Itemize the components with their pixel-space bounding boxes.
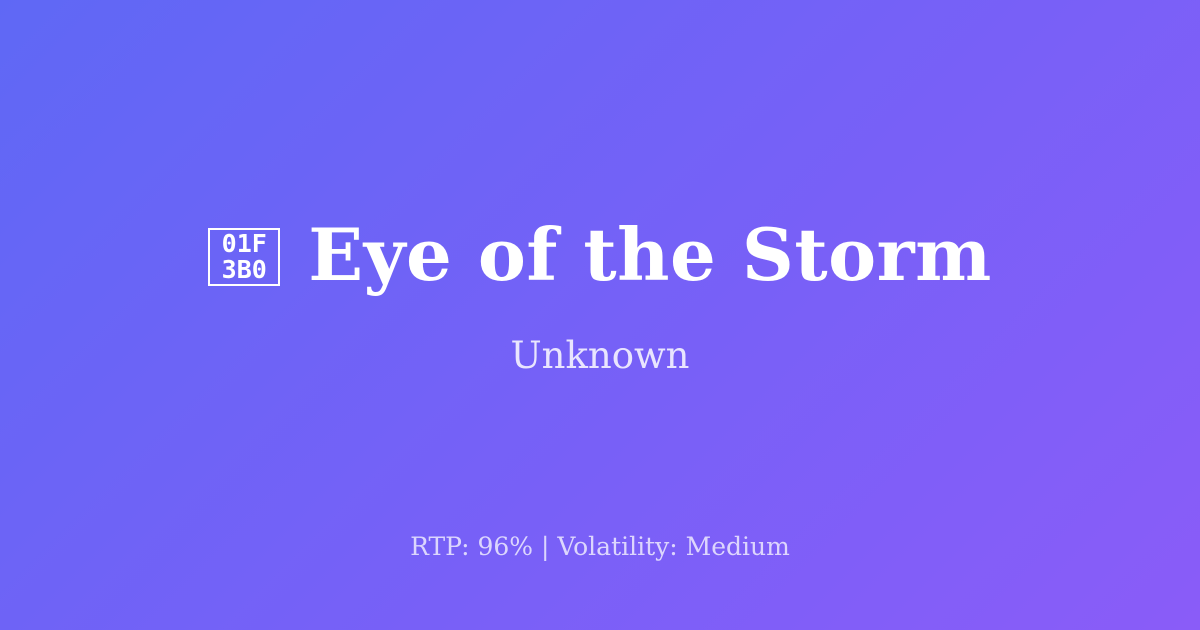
slot-machine-icon-codepoint-bottom: 3B0 xyxy=(222,257,267,283)
slot-machine-icon-codepoint-top: 01F xyxy=(222,231,267,257)
game-og-card: 01F 3B0 Eye of the Storm Unknown RTP: 96… xyxy=(0,0,1200,630)
slot-machine-icon: 01F 3B0 xyxy=(208,228,280,286)
hero-row: 01F 3B0 Eye of the Storm xyxy=(208,217,992,293)
game-provider: Unknown xyxy=(510,336,689,377)
game-stats: RTP: 96% | Volatility: Medium xyxy=(0,533,1200,561)
game-title: Eye of the Storm xyxy=(308,217,992,293)
